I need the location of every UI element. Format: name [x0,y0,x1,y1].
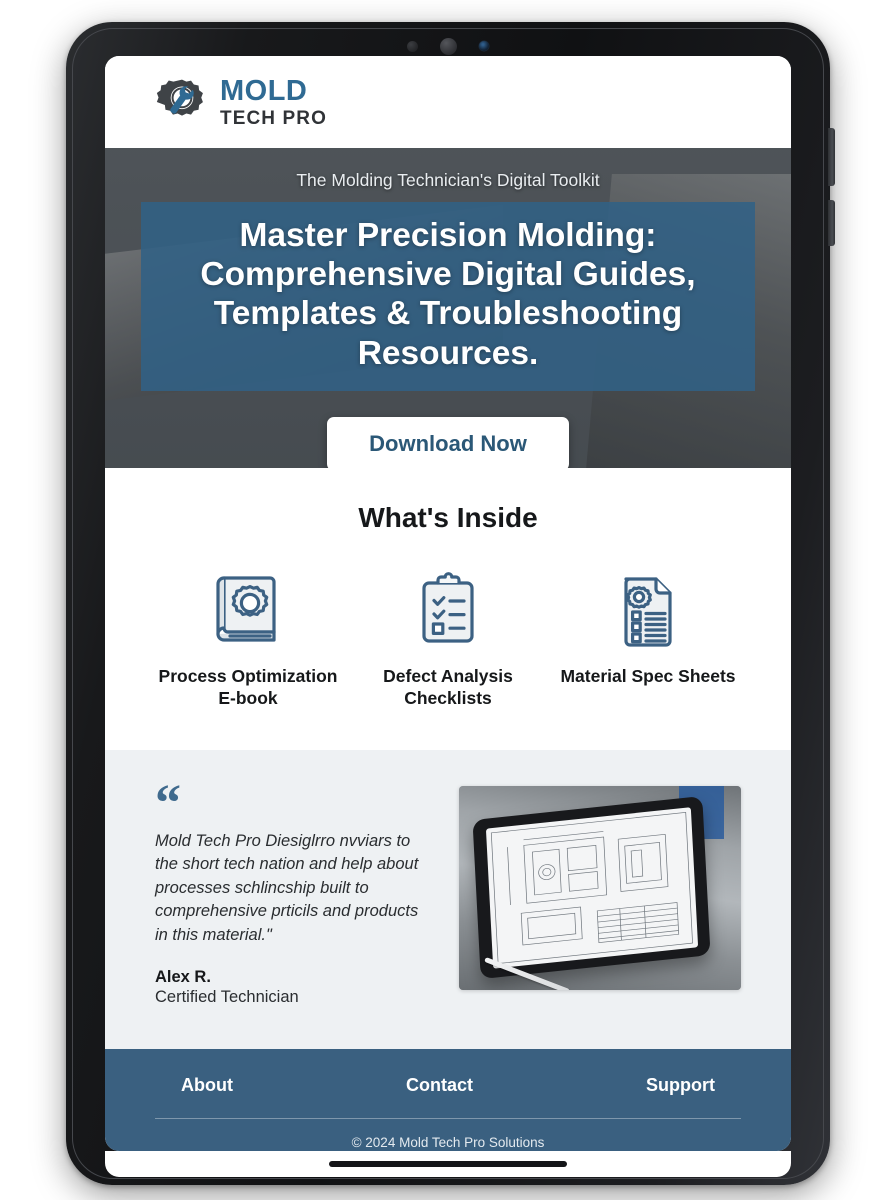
document-gear-icon [610,569,686,651]
site-header: MOLD TECH PRO [105,56,791,148]
gear-wrench-logo-icon [155,75,209,129]
feature-icon-wrap [148,564,348,656]
feature-card-specsheets[interactable]: Material Spec Sheets [548,564,748,710]
testimonial-image [459,786,741,990]
hero-content: The Molding Technician's Digital Toolkit… [105,148,791,468]
feature-icon-wrap [348,564,548,656]
cad-drawing-icon [486,807,698,969]
feature-card-ebook[interactable]: Process Optimization E-book [148,564,348,710]
hero-headline-panel: Master Precision Molding: Comprehensive … [141,202,755,391]
features-grid: Process Optimization E-book [105,564,791,710]
testimonial-author: Alex R. [155,968,433,987]
clipboard-check-icon [410,569,486,651]
tablet-device-frame: MOLD TECH PRO The Molding Technician's D… [66,22,830,1185]
volume-button[interactable] [828,128,835,186]
feature-label-ebook: Process Optimization E-book [148,666,348,710]
logo[interactable]: MOLD TECH PRO [155,75,327,129]
hero-headline: Master Precision Molding: Comprehensive … [165,216,731,373]
power-button[interactable] [828,200,835,246]
home-indicator[interactable] [329,1161,567,1167]
footer-link-contact[interactable]: Contact [406,1075,473,1096]
feature-icon-wrap [548,564,748,656]
tablet-screen: MOLD TECH PRO The Molding Technician's D… [105,56,791,1151]
footer-nav: About Contact Support [155,1075,741,1096]
feature-label-specsheets: Material Spec Sheets [548,666,748,688]
home-indicator-area [105,1151,791,1177]
cad-drawing-screen [486,807,698,969]
proximity-sensor-icon [407,41,418,52]
testimonial-quote: Mold Tech Pro Diesiglrro nvviars to the … [155,830,433,947]
logo-text-mold: MOLD [220,77,327,106]
front-camera-icon [440,38,457,55]
hero-cta-wrap: Download Now [327,417,569,468]
quote-mark-icon: “ [155,788,433,820]
tablet-in-photo [472,796,710,979]
site-footer: About Contact Support © 2024 Mold Tech P… [105,1049,791,1151]
hero-eyebrow: The Molding Technician's Digital Toolkit [296,170,599,191]
hero-section: The Molding Technician's Digital Toolkit… [105,148,791,468]
testimonial-text-column: “ Mold Tech Pro Diesiglrro nvviars to th… [155,786,433,1007]
testimonial-section: “ Mold Tech Pro Diesiglrro nvviars to th… [105,750,791,1049]
book-gear-icon [210,570,286,650]
testimonial-role: Certified Technician [155,988,433,1007]
footer-link-support[interactable]: Support [646,1075,715,1096]
logo-wordmark: MOLD TECH PRO [220,77,327,128]
download-now-button[interactable]: Download Now [327,417,569,468]
footer-copyright: © 2024 Mold Tech Pro Solutions [155,1135,741,1150]
footer-link-about[interactable]: About [181,1075,233,1096]
feature-label-checklists: Defect Analysis Checklists [348,666,548,710]
footer-divider [155,1118,741,1119]
features-section: What's Inside [105,468,791,750]
features-title: What's Inside [105,502,791,534]
sensor-cluster [66,38,830,54]
feature-card-checklists[interactable]: Defect Analysis Checklists [348,564,548,710]
ir-dot-projector-icon [479,41,489,51]
logo-text-techpro: TECH PRO [220,109,327,128]
